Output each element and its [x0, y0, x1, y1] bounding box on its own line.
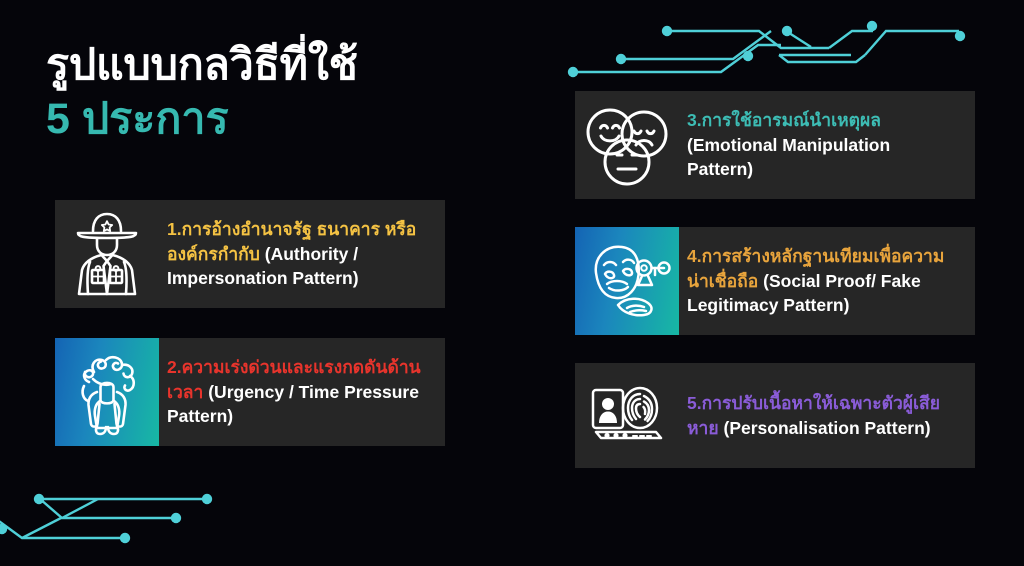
mask-key-icon — [575, 227, 679, 335]
page-title: รูปแบบกลวิธีที่ใช้ 5 ประการ — [46, 44, 506, 145]
three-emotion-faces-icon — [575, 91, 679, 199]
card-thai-text: 3.การใช้อารมณ์นำเหตุผล — [687, 110, 881, 130]
card-emotional-manipulation-pattern[interactable]: 3.การใช้อารมณ์นำเหตุผล (Emotional Manipu… — [575, 91, 975, 199]
card-text-urgency: 2.ความเร่งด่วนและแรงกดดันด้านเวลา (Urgen… — [159, 338, 445, 446]
card-text-emotional: 3.การใช้อารมณ์นำเหตุผล (Emotional Manipu… — [679, 91, 975, 199]
police-officer-icon — [55, 200, 159, 308]
stressed-person-icon — [55, 338, 159, 446]
id-card-fingerprint-icon — [575, 363, 679, 468]
card-text-social-proof: 4.การสร้างหลักฐานเทียมเพื่อความน่าเชื่อถ… — [679, 227, 975, 335]
circuit-lines-top-right — [566, 0, 1024, 100]
circuit-lines-bottom-left — [0, 466, 270, 566]
card-text-personalisation: 5.การปรับเนื้อหาให้เฉพาะตัวผู้เสียหาย (P… — [679, 363, 975, 468]
card-personalisation-pattern[interactable]: 5.การปรับเนื้อหาให้เฉพาะตัวผู้เสียหาย (P… — [575, 363, 975, 468]
slide-root: รูปแบบกลวิธีที่ใช้ 5 ประการ — [0, 0, 1024, 566]
title-line-secondary: 5 ประการ — [46, 94, 506, 145]
card-column-right: 3.การใช้อารมณ์นำเหตุผล (Emotional Manipu… — [575, 91, 975, 468]
card-text-authority: 1.การอ้างอำนาจรัฐ ธนาคาร หรือองค์กรกำกับ… — [159, 200, 445, 308]
card-english-text: (Urgency / Time Pressure Pattern) — [167, 382, 419, 427]
title-line-primary: รูปแบบกลวิธีที่ใช้ — [46, 44, 506, 88]
card-english-text: (Personalisation Pattern) — [724, 418, 931, 438]
card-urgency-pattern[interactable]: 2.ความเร่งด่วนและแรงกดดันด้านเวลา (Urgen… — [55, 338, 445, 446]
card-column-left: 1.การอ้างอำนาจรัฐ ธนาคาร หรือองค์กรกำกับ… — [55, 200, 445, 446]
card-english-text: (Emotional Manipulation Pattern) — [687, 135, 890, 180]
card-social-proof-pattern[interactable]: 4.การสร้างหลักฐานเทียมเพื่อความน่าเชื่อถ… — [575, 227, 975, 335]
card-authority-pattern[interactable]: 1.การอ้างอำนาจรัฐ ธนาคาร หรือองค์กรกำกับ… — [55, 200, 445, 308]
